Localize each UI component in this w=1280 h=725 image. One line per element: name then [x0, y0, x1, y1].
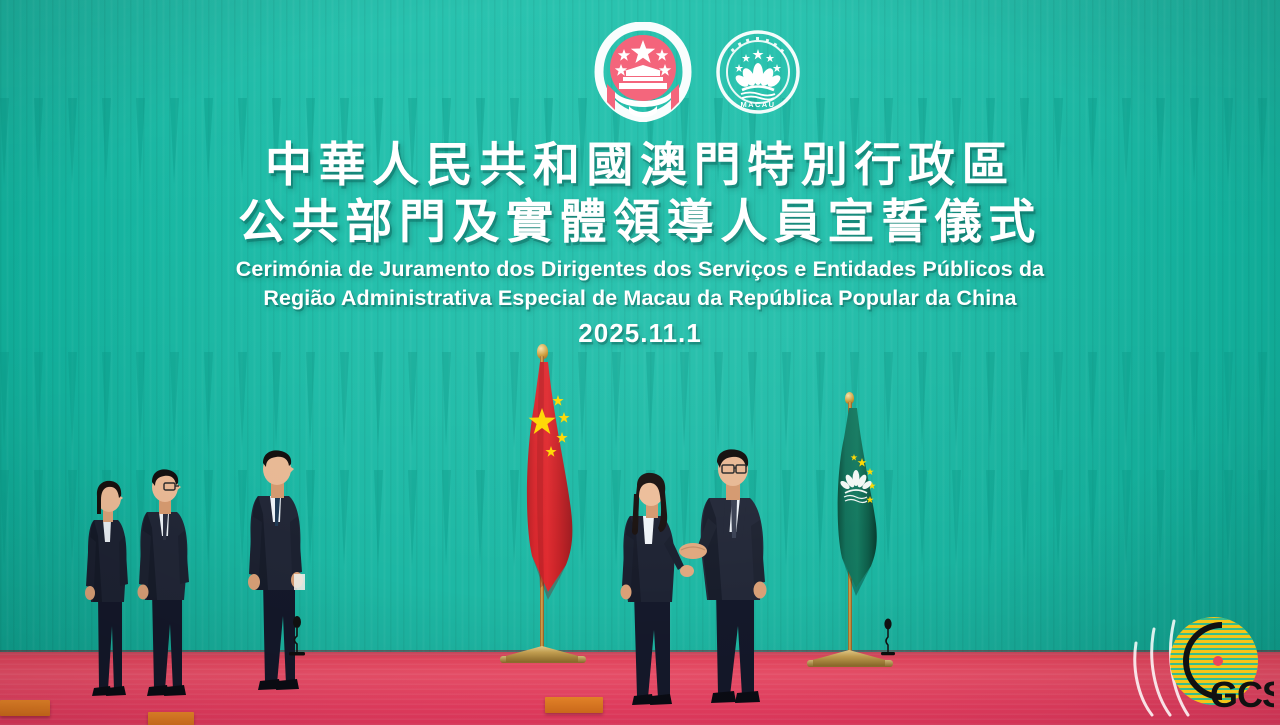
official-center-man	[692, 448, 784, 720]
flag-of-china	[508, 344, 598, 674]
floor-marker-3	[545, 697, 603, 713]
official-left-2	[132, 466, 208, 710]
banner-chinese-line-2: 公共部門及實體領導人員宣誓儀式	[0, 196, 1280, 248]
macau-emblem-rim-text: MACAU	[741, 100, 776, 109]
macau-flag-cloth	[826, 406, 898, 632]
ceremony-photo: MACAU 中華人民共和國澳門特別行政區 公共部門及實體領導人員宣誓儀式 Cer…	[0, 0, 1280, 725]
floor-marker-1	[0, 700, 50, 716]
banner-portuguese-line-2: Região Administrativa Especial de Macau …	[0, 285, 1280, 311]
gcs-logo-watermark: GCS	[1126, 603, 1274, 723]
china-flag-cloth	[514, 360, 598, 650]
national-emblem-of-china-icon	[593, 22, 693, 122]
official-left-3	[242, 448, 322, 706]
backdrop-spike-row-middle	[0, 352, 1280, 448]
handshake-clasped-hands	[676, 538, 710, 564]
macau-sar-emblem-icon: MACAU	[714, 28, 802, 116]
banner-portuguese-line-1: Cerimónia de Juramento dos Dirigentes do…	[0, 256, 1280, 282]
macau-flag-base	[813, 650, 885, 666]
held-document	[294, 574, 305, 590]
banner-chinese-line-1: 中華人民共和國澳門特別行政區	[0, 139, 1280, 191]
floor-marker-2	[148, 712, 194, 725]
emblem-row: MACAU	[0, 18, 1280, 118]
official-center-woman	[612, 470, 700, 720]
banner-date: 2025.11.1	[0, 318, 1280, 349]
floor-microphone-left	[286, 614, 310, 658]
gcs-wordmark: GCS	[1210, 674, 1274, 715]
floor-microphone-right	[878, 616, 900, 658]
